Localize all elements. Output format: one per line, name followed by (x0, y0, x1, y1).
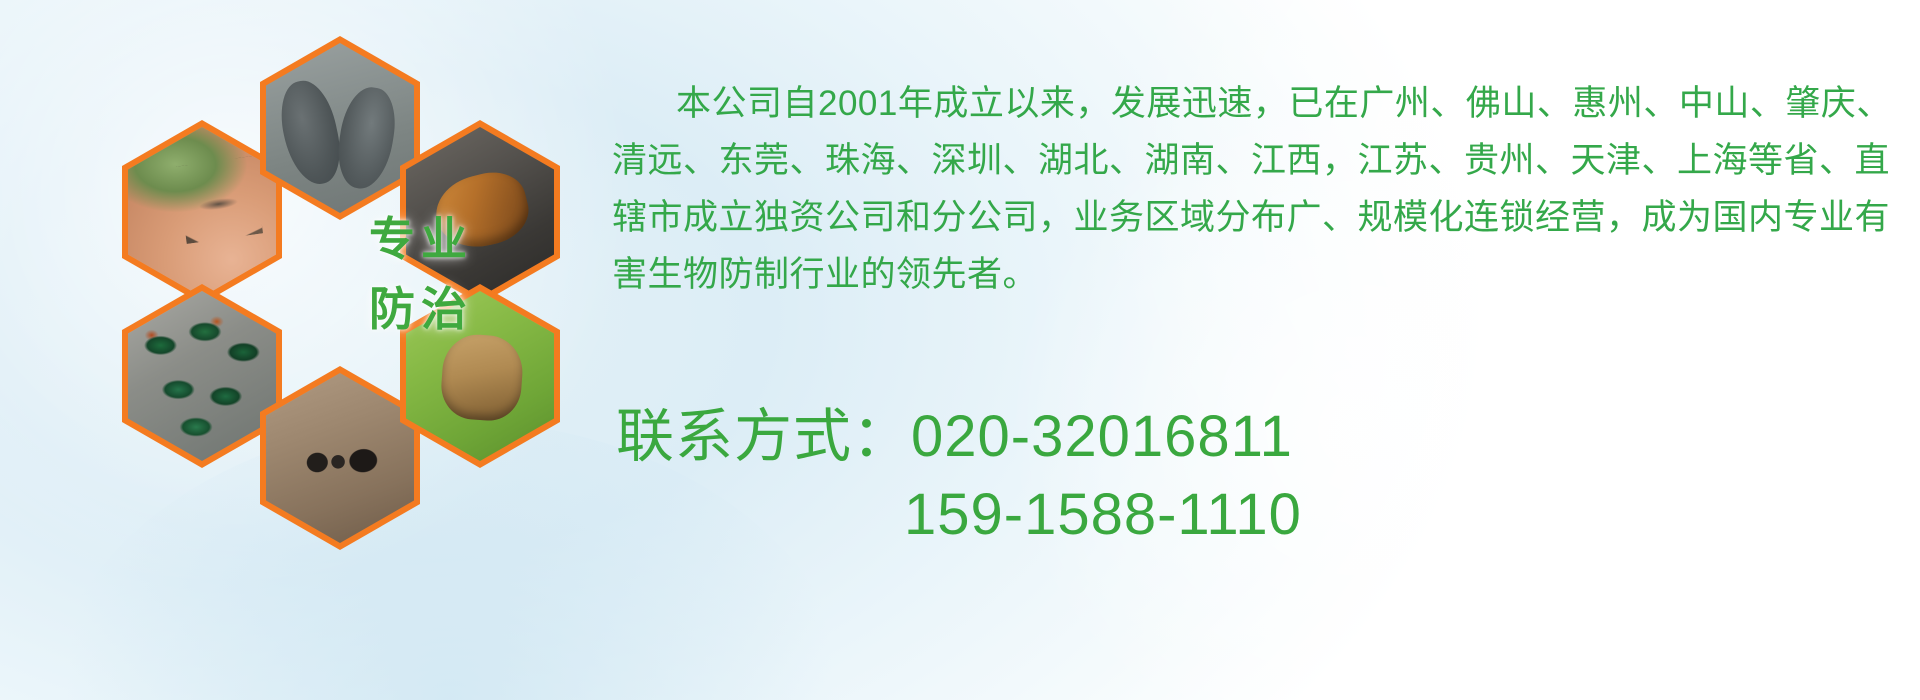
contact-block: 联系方式：020-32016811 159-1588-1110 (616, 398, 1906, 554)
stinkbug-photo (406, 291, 554, 461)
company-intro-block: 本公司自2001年成立以来，发展迅速，已在广州、佛山、惠州、中山、肇庆、清远、东… (612, 40, 1902, 338)
company-intro-paragraph: 本公司自2001年成立以来，发展迅速，已在广州、佛山、惠州、中山、肇庆、清远、东… (612, 75, 1902, 303)
pest-control-banner: 专业 防治 本公司自2001年成立以来，发展迅速，已在广州、佛山、惠州、中山、肇… (0, 0, 1920, 700)
hex-photo-cockroach-inner (406, 127, 554, 297)
hexagon-photo-collage: 专业 防治 (88, 8, 588, 568)
flies-photo (128, 291, 276, 461)
contact-secondary-phone[interactable]: 159-1588-1110 (616, 476, 1906, 554)
hex-photo-ant-inner (266, 373, 414, 543)
hex-photo-mosquito[interactable] (122, 120, 282, 304)
ant-photo (266, 373, 414, 543)
rats-photo (266, 43, 414, 213)
contact-primary-phone[interactable]: 联系方式：020-32016811 (616, 398, 1906, 476)
hex-photo-stinkbug-inner (406, 291, 554, 461)
mosquito-photo (128, 127, 276, 297)
hex-photo-rats[interactable] (260, 36, 420, 220)
hex-photo-rats-inner (266, 43, 414, 213)
hex-photo-cockroach[interactable] (400, 120, 560, 304)
hex-photo-flies[interactable] (122, 284, 282, 468)
hex-photo-stinkbug[interactable] (400, 284, 560, 468)
cockroach-photo (406, 127, 554, 297)
hex-photo-mosquito-inner (128, 127, 276, 297)
hex-photo-ant[interactable] (260, 366, 420, 550)
hex-photo-flies-inner (128, 291, 276, 461)
